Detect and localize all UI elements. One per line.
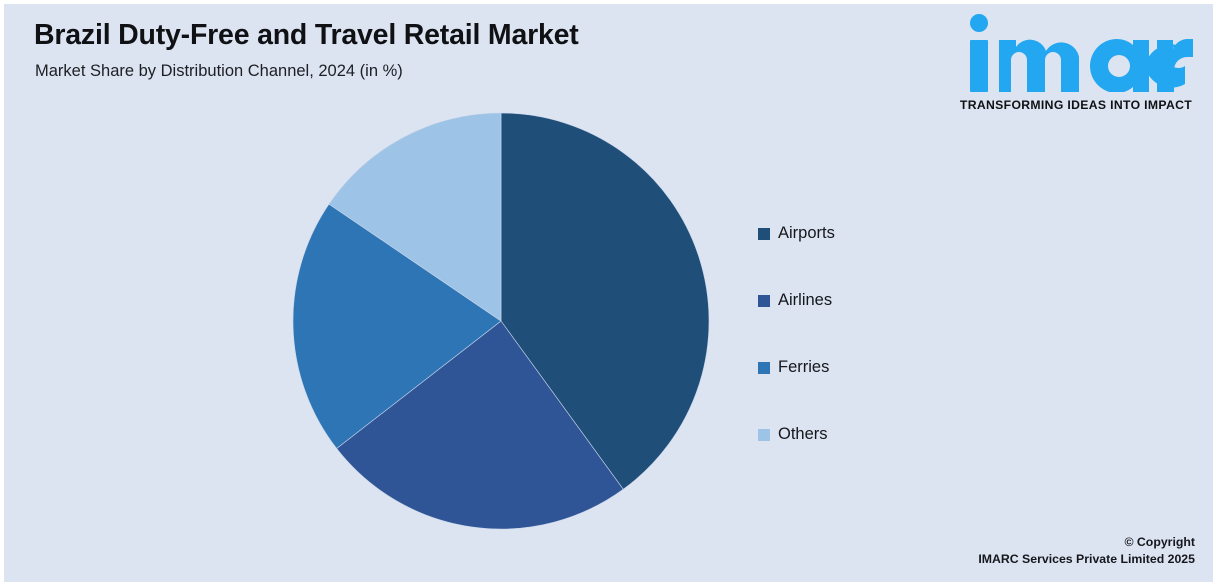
legend-item-ferries[interactable]: Ferries xyxy=(758,358,978,425)
copyright-line-1: © Copyright xyxy=(978,534,1195,551)
chart-page: Brazil Duty-Free and Travel Retail Marke… xyxy=(0,0,1217,586)
legend-swatch-icon xyxy=(758,362,770,374)
legend-swatch-icon xyxy=(758,295,770,307)
legend-item-airlines[interactable]: Airlines xyxy=(758,291,978,358)
pie-chart xyxy=(292,112,710,530)
legend-swatch-icon xyxy=(758,429,770,441)
imarc-logo: TRANSFORMING IDEAS INTO IMPACT xyxy=(957,12,1195,114)
legend-label: Airports xyxy=(778,224,835,243)
copyright-block: © Copyright IMARC Services Private Limit… xyxy=(978,534,1195,568)
legend-swatch-icon xyxy=(758,228,770,240)
copyright-line-2: IMARC Services Private Limited 2025 xyxy=(978,551,1195,568)
logo-tagline: TRANSFORMING IDEAS INTO IMPACT xyxy=(957,98,1195,112)
pie-chart-svg xyxy=(292,112,710,530)
pie-slice-group xyxy=(293,113,709,529)
chart-legend: Airports Airlines Ferries Others xyxy=(758,224,978,492)
legend-item-airports[interactable]: Airports xyxy=(758,224,978,291)
page-title: Brazil Duty-Free and Travel Retail Marke… xyxy=(34,19,579,52)
imarc-wordmark-icon xyxy=(957,12,1195,92)
legend-label: Airlines xyxy=(778,291,832,310)
legend-label: Others xyxy=(778,425,828,444)
chart-canvas: Brazil Duty-Free and Travel Retail Marke… xyxy=(4,4,1213,582)
legend-item-others[interactable]: Others xyxy=(758,425,978,492)
legend-label: Ferries xyxy=(778,358,829,377)
chart-subtitle: Market Share by Distribution Channel, 20… xyxy=(35,62,403,81)
